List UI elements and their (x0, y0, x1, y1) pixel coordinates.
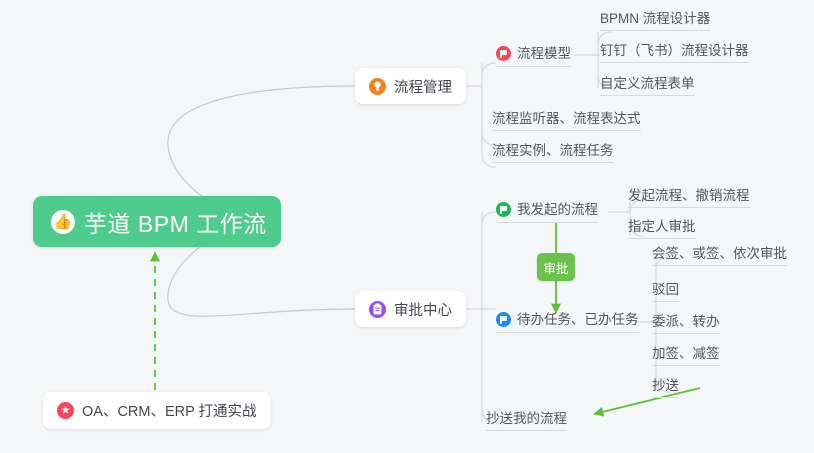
root-node-label: 芋道 BPM 工作流 (84, 205, 267, 239)
lightbulb-icon (369, 78, 386, 95)
subnode-label: 待办任务、已办任务 (517, 311, 639, 328)
leaf-label: 抄送 (652, 377, 679, 394)
subnode-my-initiated-process[interactable]: 我发起的流程 (496, 201, 598, 223)
flag-icon (496, 46, 511, 61)
leaf-label: 钉钉（飞书）流程设计器 (600, 42, 749, 59)
annotation-node-integration[interactable]: ★ OA、CRM、ERP 打通实战 (43, 392, 271, 429)
star-icon: ★ (57, 402, 74, 419)
leaf-label: 发起流程、撤销流程 (628, 187, 750, 204)
leaf-reject[interactable]: 驳回 (652, 281, 679, 302)
leaf-assignee-approval[interactable]: 指定人审批 (628, 218, 696, 239)
leaf-label: BPMN 流程设计器 (600, 10, 710, 27)
subnode-process-listener[interactable]: 流程监听器、流程表达式 (492, 110, 641, 131)
leaf-label: 委派、转办 (652, 313, 720, 330)
branch-node-label: 审批中心 (394, 299, 452, 320)
flag-icon (496, 312, 511, 327)
thumbs-up-icon: 👍 (51, 210, 75, 234)
root-node[interactable]: 👍 芋道 BPM 工作流 (33, 196, 281, 247)
subnode-cc-to-me[interactable]: 抄送我的流程 (486, 410, 567, 431)
subnode-label: 抄送我的流程 (486, 410, 567, 427)
leaf-label: 指定人审批 (628, 218, 696, 235)
clipboard-icon (369, 301, 386, 318)
annotation-node-label: OA、CRM、ERP 打通实战 (82, 400, 257, 421)
cc-flow-arrow (594, 388, 700, 414)
branch-node-process-management[interactable]: 流程管理 (355, 68, 466, 104)
subnode-todo-done-tasks[interactable]: 待办任务、已办任务 (496, 311, 639, 333)
leaf-label: 驳回 (652, 281, 679, 298)
flag-icon (496, 202, 511, 217)
leaf-dingtalk-designer[interactable]: 钉钉（飞书）流程设计器 (600, 42, 749, 63)
branch-node-approval-center[interactable]: 审批中心 (355, 291, 466, 327)
subnode-process-model[interactable]: 流程模型 (496, 45, 571, 67)
leaf-countersign[interactable]: 会签、或签、依次审批 (652, 245, 787, 266)
leaf-add-remove-sign[interactable]: 加签、减签 (652, 345, 720, 366)
subnode-label: 流程模型 (517, 45, 571, 62)
subnode-label: 流程监听器、流程表达式 (492, 110, 641, 127)
leaf-cc[interactable]: 抄送 (652, 377, 679, 398)
leaf-start-cancel-process[interactable]: 发起流程、撤销流程 (628, 187, 750, 208)
leaf-bpmn-designer[interactable]: BPMN 流程设计器 (600, 10, 710, 31)
leaf-label: 加签、减签 (652, 345, 720, 362)
callout-label: 审批 (543, 258, 568, 277)
branch-node-label: 流程管理 (394, 76, 452, 97)
mindmap-canvas: 👍 芋道 BPM 工作流 流程管理 流程模型 BPMN 流程设计器 钉钉（飞书）… (0, 0, 814, 453)
leaf-label: 自定义流程表单 (600, 75, 695, 92)
leaf-label: 会签、或签、依次审批 (652, 245, 787, 262)
subnode-process-instance[interactable]: 流程实例、流程任务 (492, 142, 614, 163)
subnode-label: 流程实例、流程任务 (492, 142, 614, 159)
subnode-label: 我发起的流程 (517, 201, 598, 218)
leaf-delegate-transfer[interactable]: 委派、转办 (652, 313, 720, 334)
leaf-custom-form[interactable]: 自定义流程表单 (600, 75, 695, 96)
callout-approval-chip[interactable]: 审批 (537, 253, 575, 281)
